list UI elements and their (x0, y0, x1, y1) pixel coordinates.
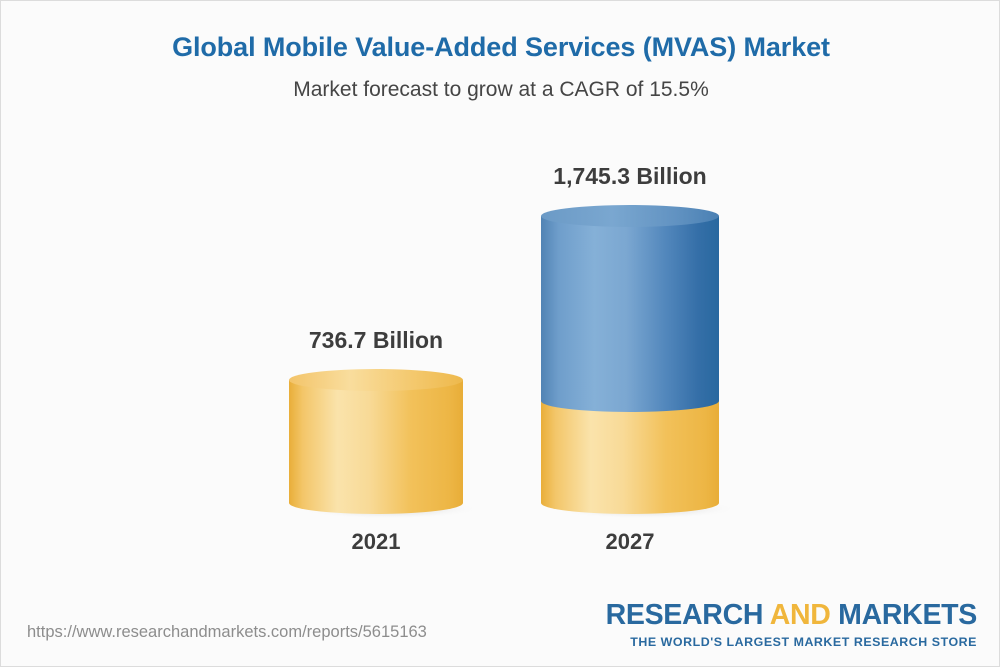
bar-top-cap-2021 (289, 369, 463, 391)
report-url[interactable]: https://www.researchandmarkets.com/repor… (27, 623, 427, 642)
category-label-2021: 2021 (352, 529, 401, 555)
bar-body-2021 (289, 380, 463, 514)
bar-segment-growth-2027 (541, 216, 719, 412)
bar-segment-base-2027 (541, 401, 719, 514)
logo-word-research: RESEARCH (606, 599, 770, 631)
logo-word-and: AND (770, 599, 831, 631)
category-label-2027: 2027 (606, 529, 655, 555)
chart-plot-area: 736.7 Billion (1, 1, 1000, 667)
chart-infographic: Global Mobile Value-Added Services (MVAS… (0, 0, 1000, 667)
logo-word-markets: MARKETS (831, 599, 977, 631)
bar-cylinder-2021[interactable] (289, 369, 463, 514)
bar-value-label-2027: 1,745.3 Billion (553, 163, 706, 190)
bar-top-cap-2027 (541, 205, 719, 227)
research-and-markets-logo[interactable]: RESEARCH AND MARKETS THE WORLD'S LARGEST… (606, 601, 977, 648)
bar-value-label-2021: 736.7 Billion (309, 327, 443, 354)
logo-tagline: THE WORLD'S LARGEST MARKET RESEARCH STOR… (606, 636, 977, 648)
logo-wordmark: RESEARCH AND MARKETS (606, 601, 977, 630)
bar-cylinder-2027[interactable] (541, 205, 719, 514)
